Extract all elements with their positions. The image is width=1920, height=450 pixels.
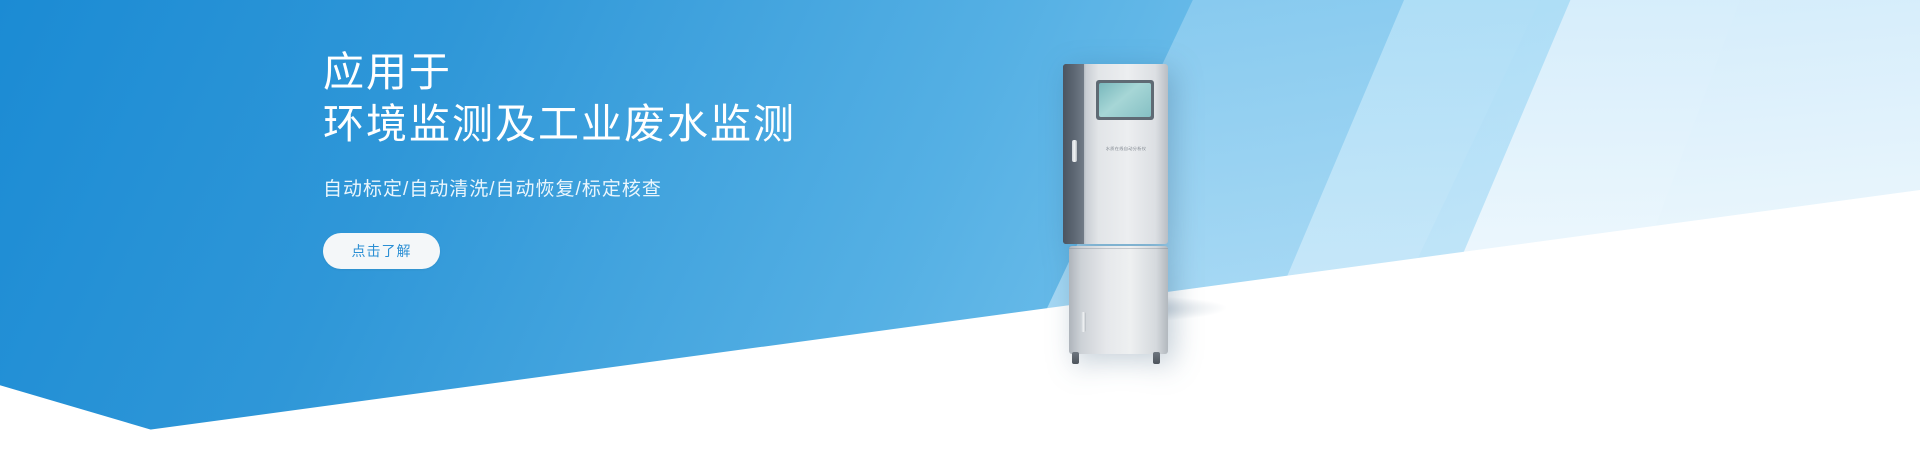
- device-upper-cabinet: 水质在线自动分析仪: [1063, 64, 1168, 244]
- hero-banner: 水质在线自动分析仪 应用于 环境监测及工业废水监测 自动标定/自动清洗/自动恢复…: [0, 0, 1920, 450]
- water-quality-analyzer-device: 水质在线自动分析仪: [1063, 64, 1168, 314]
- device-display-screen: [1096, 80, 1154, 120]
- banner-content: 应用于 环境监测及工业废水监测 自动标定/自动清洗/自动恢复/标定核查 点击了解: [323, 46, 1043, 269]
- device-door-handle-upper: [1072, 140, 1077, 162]
- learn-more-button[interactable]: 点击了解: [323, 233, 440, 269]
- device-screen-glass: [1099, 83, 1151, 117]
- device-caster-left: [1072, 352, 1079, 364]
- banner-title-line-2: 环境监测及工业废水监测: [323, 98, 1043, 150]
- banner-title-line-1: 应用于: [323, 46, 1043, 98]
- device-cabinet-seam: [1069, 248, 1168, 249]
- device-lower-cabinet: [1069, 246, 1168, 354]
- device-face-label: 水质在线自动分析仪: [1087, 146, 1165, 152]
- banner-subtitle: 自动标定/自动清洗/自动恢复/标定核查: [323, 174, 1043, 201]
- device-caster-right: [1153, 352, 1160, 364]
- device-door-handle-lower: [1081, 312, 1086, 332]
